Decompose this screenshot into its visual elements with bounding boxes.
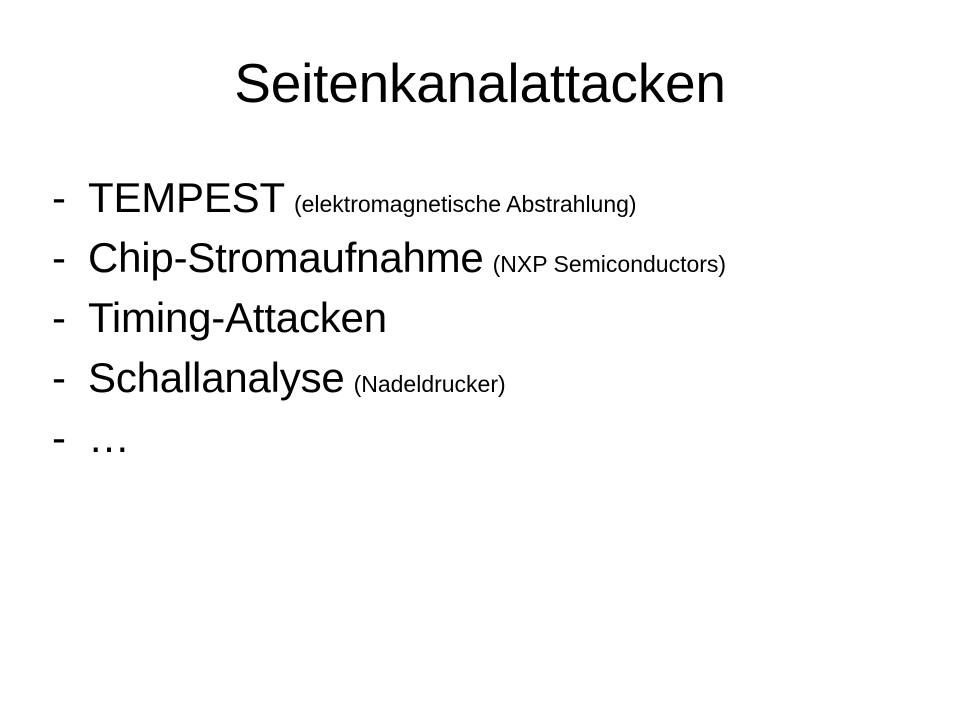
slide-title: Seitenkanalattacken — [0, 52, 960, 114]
bullet-marker-icon: - — [52, 168, 88, 228]
list-item-text: … — [88, 414, 130, 461]
bullet-marker-icon: - — [52, 408, 88, 468]
list-item-text: Chip-Stromaufnahme — [88, 234, 484, 281]
list-item: -Timing-Attacken — [52, 288, 942, 348]
bullet-marker-icon: - — [52, 288, 88, 348]
list-item: -Schallanalyse(Nadeldrucker) — [52, 348, 942, 408]
list-item: -… — [52, 408, 942, 468]
presentation-slide: Seitenkanalattacken -TEMPEST(elektromagn… — [0, 0, 960, 720]
list-item-text: TEMPEST — [88, 174, 285, 221]
list-item-text: Schallanalyse — [88, 354, 345, 401]
list-item: -TEMPEST(elektromagnetische Abstrahlung) — [52, 168, 942, 228]
bullet-marker-icon: - — [52, 228, 88, 288]
list-item-text: Timing-Attacken — [88, 294, 387, 341]
bullet-list: -TEMPEST(elektromagnetische Abstrahlung)… — [52, 168, 942, 468]
list-item-note: (elektromagnetische Abstrahlung) — [285, 191, 637, 217]
list-item-note: (Nadeldrucker) — [345, 371, 506, 397]
list-item-note: (NXP Semiconductors) — [484, 251, 727, 277]
list-item: -Chip-Stromaufnahme(NXP Semiconductors) — [52, 228, 942, 288]
bullet-marker-icon: - — [52, 348, 88, 408]
